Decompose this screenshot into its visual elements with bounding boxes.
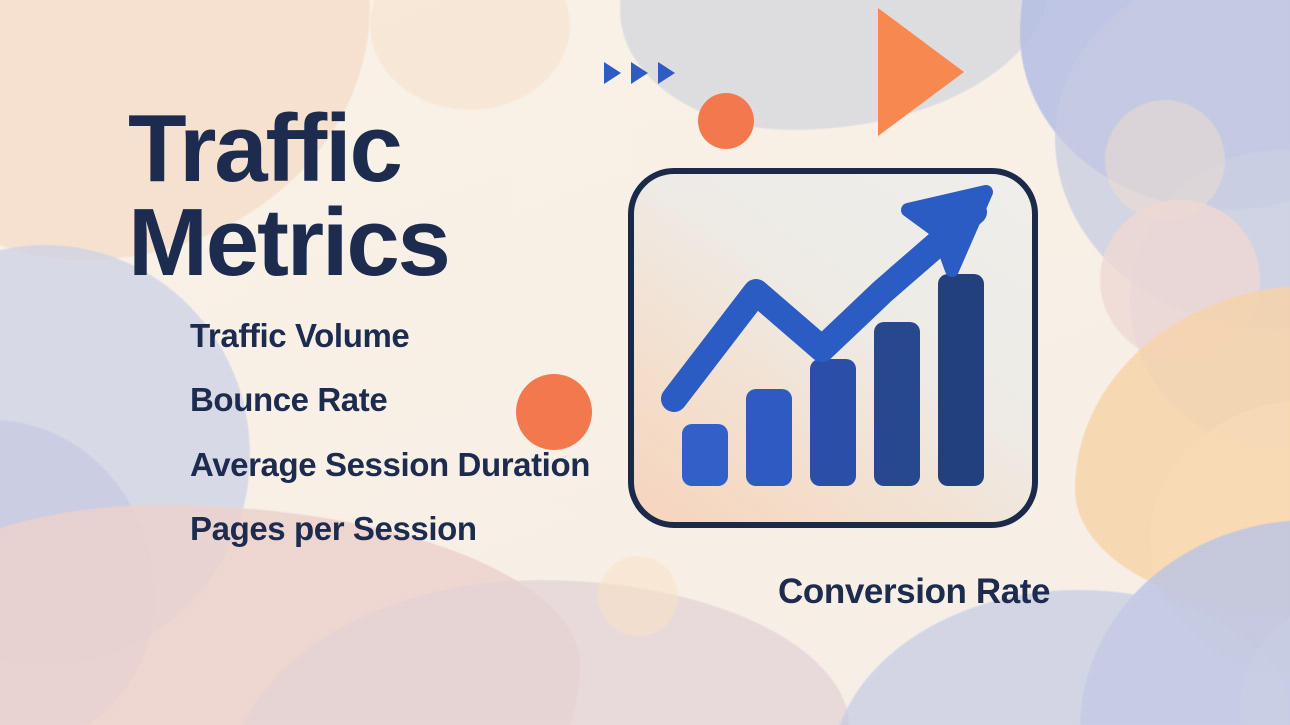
chart-bar-2 bbox=[746, 389, 792, 486]
orange-circle-icon bbox=[516, 374, 592, 450]
list-item: Average Session Duration bbox=[190, 447, 620, 483]
chart-bar-5 bbox=[938, 274, 984, 486]
chart-bar-4 bbox=[874, 322, 920, 486]
small-triangle-icon bbox=[631, 62, 648, 84]
orange-circle-icon bbox=[698, 93, 754, 149]
chart-caption: Conversion Rate bbox=[778, 572, 1050, 612]
chart-bar-1 bbox=[682, 424, 728, 486]
chart-bar-3 bbox=[810, 359, 856, 486]
small-triangle-icon bbox=[604, 62, 621, 84]
list-item: Traffic Volume bbox=[190, 318, 620, 354]
growth-chart-card bbox=[628, 168, 1038, 528]
growth-chart-icon bbox=[634, 174, 1032, 522]
slide-canvas: Traffic Metrics Traffic Volume Bounce Ra… bbox=[0, 0, 1290, 725]
slide-content: Traffic Metrics Traffic Volume Bounce Ra… bbox=[0, 0, 1290, 725]
small-triangle-icon bbox=[658, 62, 675, 84]
play-triangle-icon bbox=[878, 8, 964, 136]
small-triangle-group bbox=[604, 62, 675, 84]
page-title-line-1: Traffic bbox=[128, 95, 401, 202]
list-item: Pages per Session bbox=[190, 511, 620, 547]
page-title: Traffic Metrics bbox=[128, 102, 608, 290]
page-title-line-2: Metrics bbox=[128, 196, 608, 290]
